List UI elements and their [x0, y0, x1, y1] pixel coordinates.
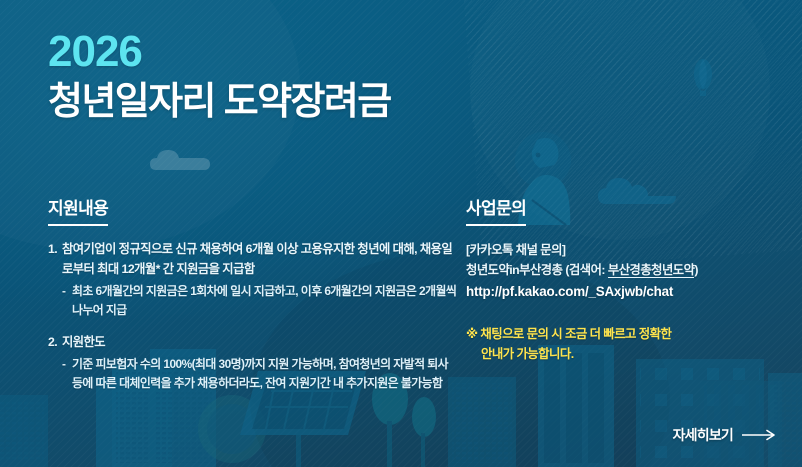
promo-poster: 2026 청년일자리 도약장려금 지원내용 1. 참여기업이 정규직으로 신규 … — [0, 0, 802, 467]
contact-heading: 사업문의 — [466, 200, 526, 226]
cloud-icon — [150, 150, 210, 170]
channel-prefix: 청년도약in부산경총 (검색어: — [466, 263, 608, 277]
arrow-right-icon — [742, 429, 778, 441]
support-details-section: 지원내용 1. 참여기업이 정규직으로 신규 채용하여 6개월 이상 고용유지한… — [48, 200, 460, 394]
contact-note-line2: 안내가 가능합니다. — [466, 345, 786, 365]
list-item-text: 참여기업이 정규직으로 신규 채용하여 6개월 이상 고용유지한 청년에 대해,… — [62, 240, 460, 280]
list-item-text: 기준 피보험자 수의 100%(최대 30명)까지 지원 가능하며, 참여청년의… — [72, 355, 460, 394]
list-item: 1. 참여기업이 정규직으로 신규 채용하여 6개월 이상 고용유지한 청년에 … — [48, 240, 460, 280]
contact-section: 사업문의 [카카오톡 채널 문의] 청년도약in부산경총 (검색어: 부산경총청… — [466, 200, 786, 365]
list-item-text: 지원한도 — [62, 333, 460, 353]
list-item: - 최초 6개월간의 지원금은 1회차에 일시 지급하고, 이후 6개월간의 지… — [48, 282, 460, 321]
more-details-label: 자세히보기 — [673, 425, 733, 445]
list-item-text: 최초 6개월간의 지원금은 1회차에 일시 지급하고, 이후 6개월간의 지원금… — [72, 282, 460, 321]
poster-year: 2026 — [48, 30, 391, 74]
channel-suffix: ) — [694, 263, 698, 277]
list-item: - 기준 피보험자 수의 100%(최대 30명)까지 지원 가능하며, 참여청… — [48, 355, 460, 394]
list-marker: - — [62, 282, 72, 321]
support-details-heading: 지원내용 — [48, 200, 108, 226]
support-details-list: 1. 참여기업이 정규직으로 신규 채용하여 6개월 이상 고용유지한 청년에 … — [48, 240, 460, 394]
list-item: 2. 지원한도 — [48, 333, 460, 353]
contact-note: ※ 채팅으로 문의 시 조금 더 빠르고 정확한 안내가 가능합니다. — [466, 325, 786, 365]
list-marker: 1. — [48, 240, 62, 280]
hot-air-balloon-icon — [692, 58, 714, 106]
list-marker: 2. — [48, 333, 62, 353]
poster-title-block: 2026 청년일자리 도약장려금 — [48, 30, 391, 124]
kakao-channel-url[interactable]: http://pf.kakao.com/_SAxjwb/chat — [466, 284, 786, 299]
channel-keyword: 부산경총청년도약 — [608, 263, 695, 278]
more-details-button[interactable]: 자세히보기 — [673, 425, 778, 445]
list-marker: - — [62, 355, 72, 394]
contact-note-line1: ※ 채팅으로 문의 시 조금 더 빠르고 정확한 — [466, 327, 671, 341]
kakao-channel-label: [카카오톡 채널 문의] — [466, 240, 786, 261]
contact-body: [카카오톡 채널 문의] 청년도약in부산경총 (검색어: 부산경총청년도약) … — [466, 240, 786, 365]
kakao-channel-name: 청년도약in부산경총 (검색어: 부산경총청년도약) — [466, 260, 786, 281]
poster-headline: 청년일자리 도약장려금 — [48, 80, 391, 124]
